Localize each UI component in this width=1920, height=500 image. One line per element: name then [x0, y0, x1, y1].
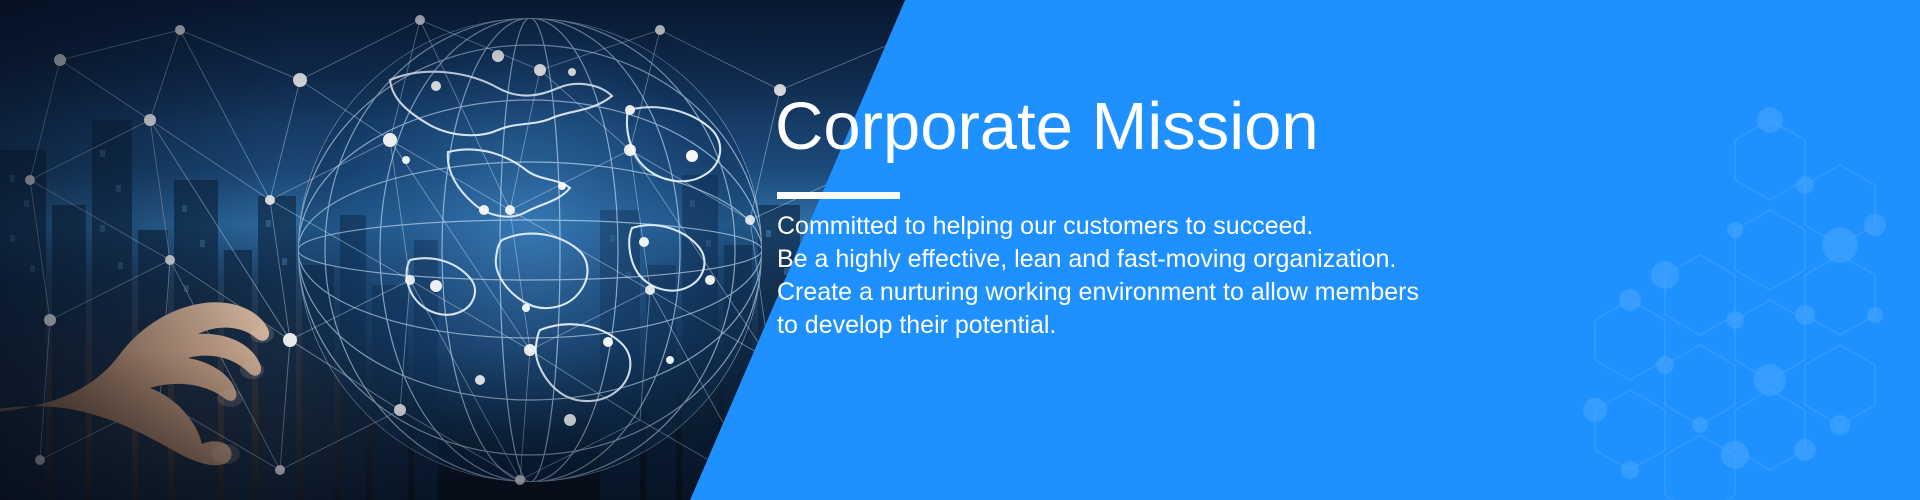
- mission-line-3: Create a nurturing working environment t…: [777, 276, 1397, 309]
- title-divider: [777, 192, 900, 199]
- mission-line-4: to develop their potential.: [777, 309, 1397, 342]
- banner-content: Corporate Mission Committed to helping o…: [775, 0, 1775, 500]
- mission-statement: Committed to helping our customers to su…: [777, 210, 1397, 342]
- mission-line-1: Committed to helping our customers to su…: [777, 210, 1397, 243]
- page-title: Corporate Mission: [775, 92, 1319, 162]
- hand-gesture-graphic: [0, 230, 400, 500]
- mission-line-2: Be a highly effective, lean and fast-mov…: [777, 243, 1397, 276]
- corporate-mission-banner: Corporate Mission Committed to helping o…: [0, 0, 1920, 500]
